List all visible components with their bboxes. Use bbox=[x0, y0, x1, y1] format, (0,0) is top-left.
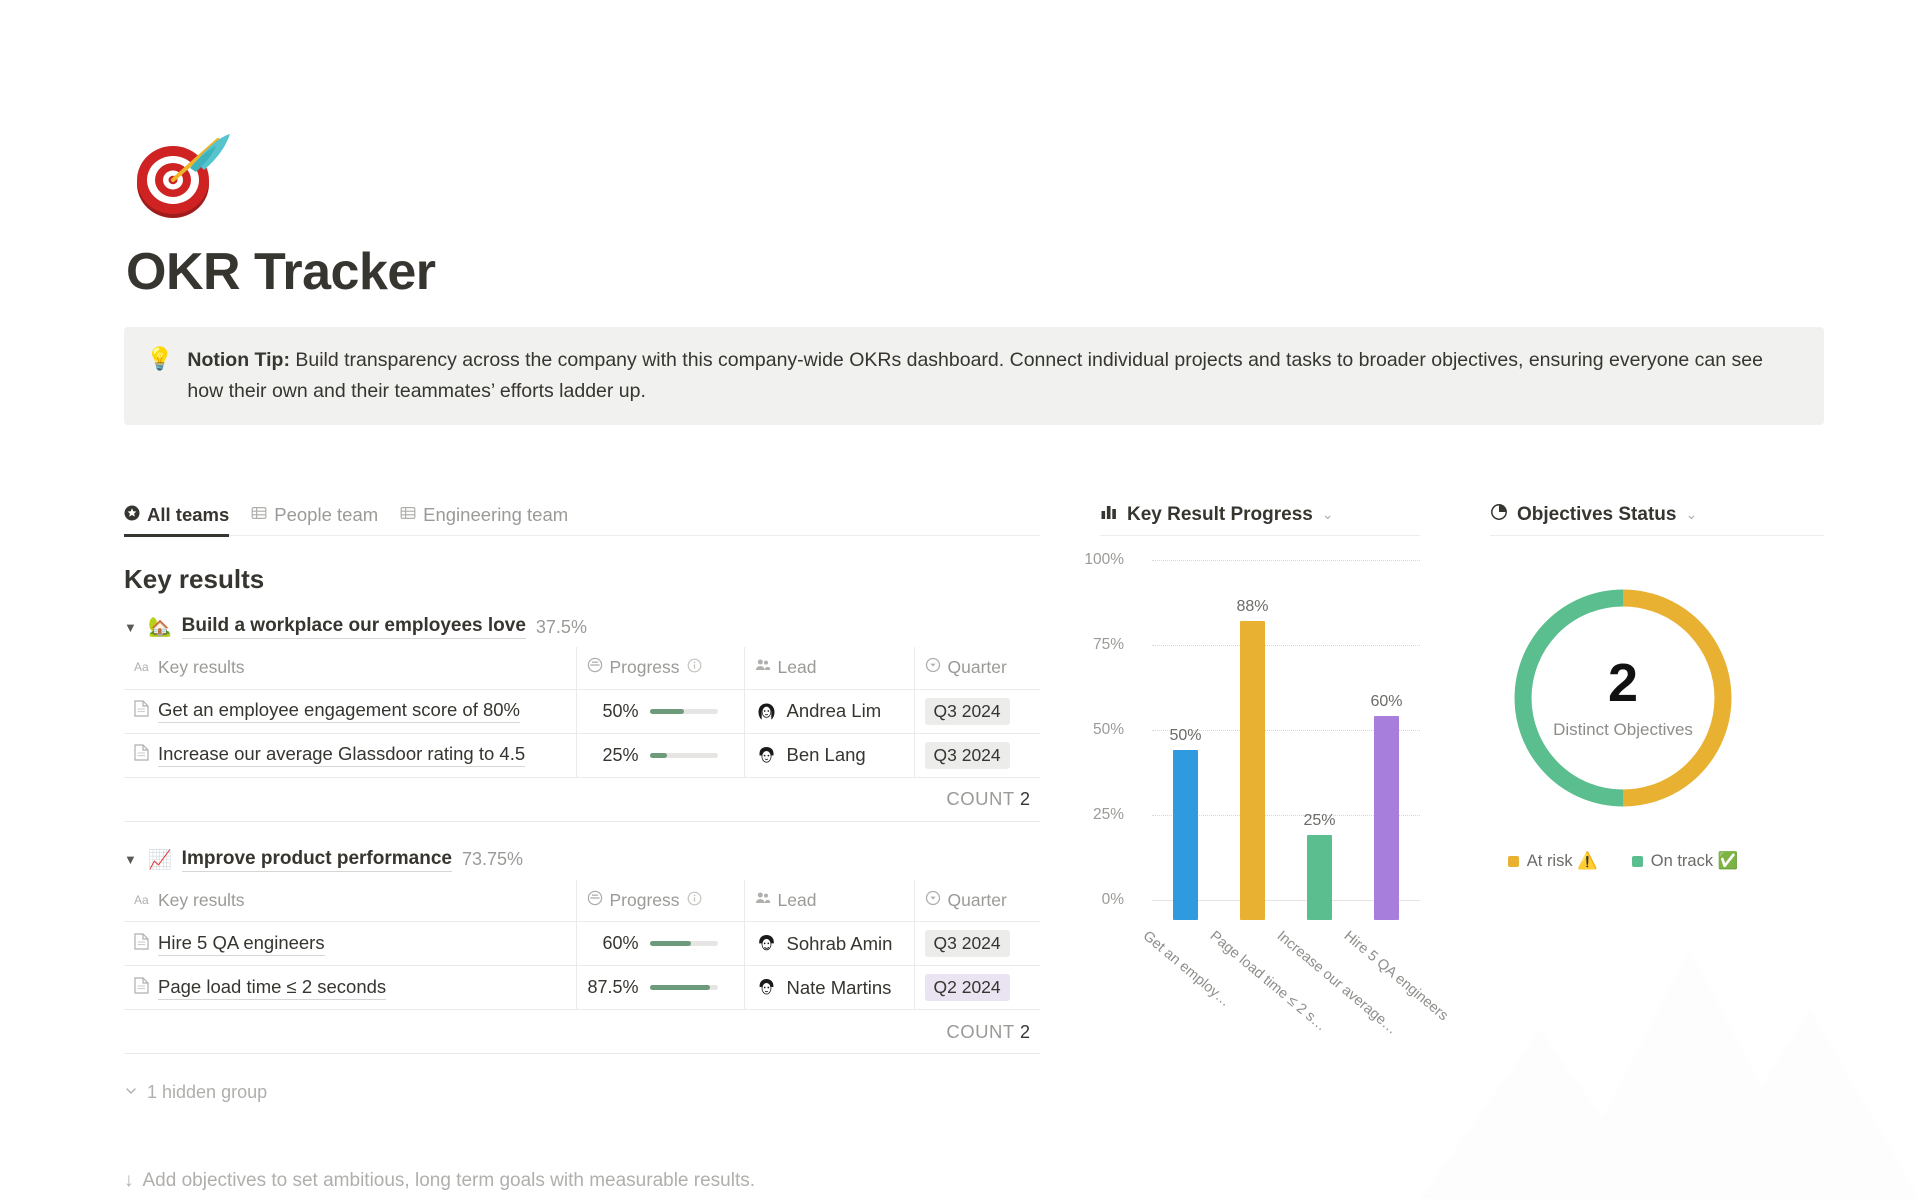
table-icon bbox=[400, 504, 416, 526]
key-result-title[interactable]: Get an employee engagement score of 80% bbox=[158, 699, 520, 723]
footer-hint-text: Add objectives to set ambitious, long te… bbox=[143, 1170, 756, 1192]
column-label: Quarter bbox=[948, 657, 1007, 678]
bar-chart-icon bbox=[1100, 503, 1118, 527]
column-header-progress[interactable]: Progress bbox=[576, 880, 744, 922]
column-header-progress[interactable]: Progress bbox=[576, 647, 744, 689]
avatar bbox=[755, 976, 778, 999]
count-value: 2 bbox=[1020, 1022, 1030, 1042]
column-label: Progress bbox=[610, 890, 680, 911]
progress-cell: 87.5% bbox=[576, 966, 744, 1010]
key-result-title[interactable]: Increase our average Glassdoor rating to… bbox=[158, 743, 525, 767]
house-icon: 🏡 bbox=[148, 615, 172, 639]
table-header-row: Aa Key results Progress Lead Quarter bbox=[124, 647, 1040, 689]
column-header-lead[interactable]: Lead bbox=[744, 647, 914, 689]
lead-name: Sohrab Amin bbox=[787, 933, 893, 955]
person-icon bbox=[755, 890, 771, 911]
table-row[interactable]: Increase our average Glassdoor rating to… bbox=[124, 733, 1040, 777]
objectives-status-panel: Objectives Status ⌄ 2 Distinct Objective… bbox=[1490, 494, 1824, 912]
legend-label: At risk ⚠️ bbox=[1527, 852, 1598, 871]
okr-tracker-page: OKR Tracker 💡 Notion Tip: Build transpar… bbox=[0, 0, 1920, 1199]
avatar bbox=[755, 744, 778, 767]
key-result-title[interactable]: Page load time ≤ 2 seconds bbox=[158, 976, 386, 1000]
key-result-progress-panel: Key Result Progress ⌄ 100% 75% 50% 25% 0… bbox=[1100, 494, 1420, 920]
add-objectives-hint[interactable]: ↓ Add objectives to set ambitious, long … bbox=[124, 1170, 755, 1192]
column-label: Quarter bbox=[948, 890, 1007, 911]
chart-increasing-icon: 📈 bbox=[148, 848, 172, 872]
count-cell[interactable]: COUNT 2 bbox=[124, 1010, 1040, 1054]
key-result-name-cell[interactable]: Increase our average Glassdoor rating to… bbox=[124, 733, 576, 777]
progress-bar bbox=[650, 985, 718, 990]
bar-panel-header[interactable]: Key Result Progress ⌄ bbox=[1100, 494, 1420, 536]
progress-cell: 25% bbox=[576, 733, 744, 777]
bar-item[interactable]: 50% bbox=[1152, 580, 1219, 920]
table-header-row: Aa Key results Progress Lead Quarter bbox=[124, 880, 1040, 922]
text-type-icon: Aa bbox=[134, 657, 151, 678]
legend-swatch-on-track bbox=[1632, 856, 1643, 867]
count-cell[interactable]: COUNT 2 bbox=[124, 777, 1040, 821]
section-title: Key results bbox=[124, 564, 1040, 595]
quarter-pill: Q2 2024 bbox=[925, 974, 1010, 1001]
tab-label: All teams bbox=[147, 504, 229, 526]
key-result-title[interactable]: Hire 5 QA engineers bbox=[158, 932, 325, 956]
page-icon bbox=[134, 977, 149, 999]
dart-target-icon bbox=[126, 128, 234, 222]
group-title[interactable]: Improve product performance bbox=[182, 848, 452, 872]
group-percent: 73.75% bbox=[462, 849, 523, 870]
key-result-name-cell[interactable]: Get an employee engagement score of 80% bbox=[124, 689, 576, 733]
progress-bar bbox=[650, 753, 718, 758]
bar-page-load-time[interactable] bbox=[1240, 621, 1265, 920]
progress-bar bbox=[650, 709, 718, 714]
tab-engineering-team[interactable]: Engineering team bbox=[400, 504, 568, 535]
lead-cell[interactable]: Ben Lang bbox=[744, 733, 914, 777]
caret-down-icon[interactable]: ▼ bbox=[124, 852, 138, 867]
chevron-down-icon bbox=[124, 1082, 138, 1103]
lead-cell[interactable]: Andrea Lim bbox=[744, 689, 914, 733]
group-title[interactable]: Build a workplace our employees love bbox=[182, 615, 526, 639]
page-icon bbox=[134, 744, 149, 766]
donut-center-label: 2 Distinct Objectives bbox=[1507, 582, 1739, 814]
donut-legend: At risk ⚠️ On track ✅ bbox=[1490, 852, 1756, 871]
group-count-row: COUNT 2 bbox=[124, 1010, 1040, 1054]
column-header-quarter[interactable]: Quarter bbox=[914, 647, 1040, 689]
bar-series: 50% 88% 25% 60% bbox=[1152, 580, 1420, 920]
lead-name: Andrea Lim bbox=[787, 700, 882, 722]
tab-all-teams[interactable]: All teams bbox=[124, 504, 229, 535]
bar-value-label: 60% bbox=[1370, 693, 1402, 711]
info-icon[interactable] bbox=[687, 657, 702, 678]
progress-value: 60% bbox=[587, 933, 639, 954]
bar-item[interactable]: 88% bbox=[1219, 580, 1286, 920]
notion-tip-callout: 💡 Notion Tip: Build transparency across … bbox=[124, 327, 1824, 425]
text-type-icon: Aa bbox=[134, 890, 151, 911]
bar-value-label: 88% bbox=[1236, 598, 1268, 616]
y-tick-label: 50% bbox=[1093, 721, 1124, 739]
progress-value: 50% bbox=[587, 701, 639, 722]
svg-text:Aa: Aa bbox=[134, 893, 149, 906]
x-tick-label: Page load time ≤ 2 s… bbox=[1207, 928, 1330, 1034]
y-tick-label: 0% bbox=[1102, 891, 1124, 909]
group-count-row: COUNT 2 bbox=[124, 777, 1040, 821]
quarter-pill: Q3 2024 bbox=[925, 698, 1010, 725]
quarter-cell[interactable]: Q2 2024 bbox=[914, 966, 1040, 1010]
callout-body: Build transparency across the company wi… bbox=[187, 349, 1763, 402]
down-arrow-icon: ↓ bbox=[124, 1170, 134, 1192]
progress-value: 25% bbox=[587, 745, 639, 766]
count-label: COUNT bbox=[946, 788, 1014, 809]
lead-name: Ben Lang bbox=[787, 744, 866, 766]
person-icon bbox=[755, 657, 771, 678]
objective-group: ▼ 🏡 Build a workplace our employees love… bbox=[124, 607, 1040, 822]
callout-label: Notion Tip: bbox=[187, 349, 290, 371]
column-label: Progress bbox=[610, 657, 680, 678]
column-label: Lead bbox=[778, 657, 817, 678]
formula-icon bbox=[587, 657, 603, 678]
star-circle-icon bbox=[124, 504, 140, 526]
tab-people-team[interactable]: People team bbox=[251, 504, 378, 535]
column-header-lead[interactable]: Lead bbox=[744, 880, 914, 922]
callout-text: Notion Tip: Build transparency across th… bbox=[187, 345, 1802, 407]
formula-icon bbox=[587, 890, 603, 911]
donut-chart: 2 Distinct Objectives At risk ⚠️ On trac… bbox=[1490, 582, 1824, 912]
progress-bar bbox=[650, 941, 718, 946]
x-axis-labels: Get an employ… Page load time ≤ 2 s… Inc… bbox=[1152, 924, 1420, 1044]
legend-label: On track ✅ bbox=[1651, 852, 1738, 871]
progress-cell: 60% bbox=[576, 922, 744, 966]
key-results-column: All teams People team Engineering team K… bbox=[124, 494, 1040, 1103]
key-result-name-cell[interactable]: Page load time ≤ 2 seconds bbox=[124, 966, 576, 1010]
y-tick-label: 100% bbox=[1084, 551, 1124, 569]
team-tabs: All teams People team Engineering team bbox=[124, 494, 1040, 536]
avatar bbox=[755, 932, 778, 955]
bar-hire-qa-engineers[interactable] bbox=[1374, 716, 1399, 920]
page-icon bbox=[134, 933, 149, 955]
legend-item-on-track[interactable]: On track ✅ bbox=[1632, 852, 1738, 871]
svg-text:Aa: Aa bbox=[134, 660, 149, 673]
bar-panel-title: Key Result Progress bbox=[1127, 504, 1313, 526]
hidden-group-toggle[interactable]: 1 hidden group bbox=[124, 1082, 1040, 1103]
legend-swatch-at-risk bbox=[1508, 856, 1519, 867]
y-tick-label: 25% bbox=[1093, 806, 1124, 824]
bar-item[interactable]: 60% bbox=[1353, 580, 1420, 920]
tab-label: People team bbox=[274, 504, 378, 526]
bar-chart: 100% 75% 50% 25% 0% 50% 88% 25% bbox=[1100, 560, 1420, 920]
avatar bbox=[755, 700, 778, 723]
chevron-down-icon[interactable]: ⌄ bbox=[1685, 506, 1697, 523]
lead-cell[interactable]: Nate Martins bbox=[744, 966, 914, 1010]
y-tick-label: 75% bbox=[1093, 636, 1124, 654]
pie-chart-icon bbox=[1490, 503, 1508, 527]
select-icon bbox=[925, 890, 941, 911]
column-header-key-results[interactable]: Aa Key results bbox=[124, 647, 576, 689]
objective-group: ▼ 📈 Improve product performance 73.75% A… bbox=[124, 840, 1040, 1055]
column-label: Key results bbox=[158, 890, 245, 911]
bar-item[interactable]: 25% bbox=[1286, 580, 1353, 920]
column-header-quarter[interactable]: Quarter bbox=[914, 880, 1040, 922]
progress-cell: 50% bbox=[576, 689, 744, 733]
quarter-cell[interactable]: Q3 2024 bbox=[914, 922, 1040, 966]
lead-name: Nate Martins bbox=[787, 977, 892, 999]
key-result-name-cell[interactable]: Hire 5 QA engineers bbox=[124, 922, 576, 966]
donut-panel-title: Objectives Status bbox=[1517, 504, 1676, 526]
bar-glassdoor-rating[interactable] bbox=[1307, 835, 1332, 920]
table-row[interactable]: Hire 5 QA engineers 60% Sohrab Amin Q3 2… bbox=[124, 922, 1040, 966]
distinct-objectives-count: 2 bbox=[1608, 656, 1638, 710]
column-label: Lead bbox=[778, 890, 817, 911]
tab-label: Engineering team bbox=[423, 504, 568, 526]
table-row[interactable]: Page load time ≤ 2 seconds 87.5% Nate Ma… bbox=[124, 966, 1040, 1010]
column-label: Key results bbox=[158, 657, 245, 678]
group-header[interactable]: ▼ 📈 Improve product performance 73.75% bbox=[124, 840, 1040, 880]
lead-cell[interactable]: Sohrab Amin bbox=[744, 922, 914, 966]
bar-get-employee-engagement[interactable] bbox=[1173, 750, 1198, 920]
page-icon bbox=[134, 700, 149, 722]
x-tick-label: Increase our average… bbox=[1274, 928, 1400, 1038]
count-value: 2 bbox=[1020, 789, 1030, 809]
key-results-table: Aa Key results Progress Lead Quarter bbox=[124, 880, 1040, 1055]
select-icon bbox=[925, 657, 941, 678]
progress-value: 87.5% bbox=[587, 977, 639, 998]
page-title: OKR Tracker bbox=[126, 242, 436, 302]
group-header[interactable]: ▼ 🏡 Build a workplace our employees love… bbox=[124, 607, 1040, 647]
table-row[interactable]: Get an employee engagement score of 80% … bbox=[124, 689, 1040, 733]
column-header-key-results[interactable]: Aa Key results bbox=[124, 880, 576, 922]
hidden-group-label: 1 hidden group bbox=[147, 1082, 267, 1103]
distinct-objectives-label: Distinct Objectives bbox=[1553, 720, 1693, 740]
chevron-down-icon[interactable]: ⌄ bbox=[1322, 506, 1334, 523]
key-results-table: Aa Key results Progress Lead Quarter bbox=[124, 647, 1040, 822]
quarter-pill: Q3 2024 bbox=[925, 930, 1010, 957]
info-icon[interactable] bbox=[687, 890, 702, 911]
quarter-pill: Q3 2024 bbox=[925, 742, 1010, 769]
quarter-cell[interactable]: Q3 2024 bbox=[914, 733, 1040, 777]
quarter-cell[interactable]: Q3 2024 bbox=[914, 689, 1040, 733]
legend-item-at-risk[interactable]: At risk ⚠️ bbox=[1508, 852, 1598, 871]
group-percent: 37.5% bbox=[536, 617, 587, 638]
bar-value-label: 50% bbox=[1169, 727, 1201, 745]
bar-value-label: 25% bbox=[1303, 812, 1335, 830]
count-label: COUNT bbox=[946, 1021, 1014, 1042]
table-icon bbox=[251, 504, 267, 526]
caret-down-icon[interactable]: ▼ bbox=[124, 620, 138, 635]
donut-panel-header[interactable]: Objectives Status ⌄ bbox=[1490, 494, 1824, 536]
lightbulb-icon: 💡 bbox=[146, 345, 173, 373]
